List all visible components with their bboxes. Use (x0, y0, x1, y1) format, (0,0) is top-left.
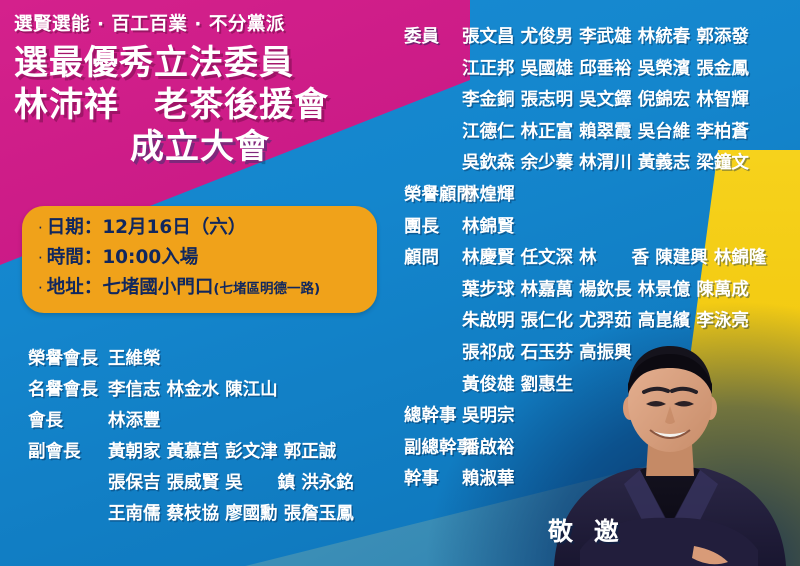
event-time-value: 10:00入場 (102, 243, 198, 272)
roster-names: 黃俊雄 劉惠生 (462, 370, 573, 402)
roster-row: 江正邦 吳國雄 邱垂裕 吳榮濱 張金鳳 (404, 54, 800, 86)
roster-row: 張保吉 張威賢 吳 鎮 洪永銘 (28, 468, 428, 499)
header-kicker: 選賢選能 · 百工百業 · 不分黨派 (14, 10, 414, 36)
roster-row: 榮譽顧問 林煌輝 (404, 180, 800, 212)
roster-row: 顧問 林慶賢 任文深 林 香 陳建興 林錦隆 (404, 243, 800, 275)
right-roster-list: 委員 張文昌 尤俊男 李武雄 林統春 郭添發 江正邦 吳國雄 邱垂裕 吳榮濱 張… (404, 22, 800, 496)
event-date-label: 日期 (47, 213, 84, 242)
event-details-card: · 日期 ： 12月16日（六） · 時間 ： 10:00入場 · 地址 ： 七… (22, 206, 377, 313)
roster-role: 榮譽顧問 (404, 180, 462, 212)
colon-separator: ： (84, 243, 103, 272)
event-address-value: 七堵國小門口 (102, 273, 213, 302)
roster-row: 副會長 黃朝家 黃慕莒 彭文津 郭正誠 (28, 437, 428, 468)
roster-names: 賴淑華 (462, 464, 515, 496)
roster-names: 張祁成 石玉芬 高振興 (462, 338, 632, 370)
signoff-text: 敬 邀 (548, 512, 625, 548)
event-date-value: 12月16日（六） (102, 213, 246, 242)
roster-names: 吳明宗 (462, 401, 515, 433)
roster-names: 朱啟明 張仁化 尤羿茹 高崑繽 李泳亮 (462, 306, 749, 338)
roster-role: 名譽會長 (28, 375, 108, 406)
event-detail-row-date: · 日期 ： 12月16日（六） (22, 213, 377, 243)
roster-names: 林慶賢 任文深 林 香 陳建興 林錦隆 (462, 243, 766, 275)
roster-role: 團長 (404, 212, 462, 244)
roster-names: 張保吉 張威賢 吳 鎮 洪永銘 (108, 468, 354, 499)
roster-row: 李金銅 張志明 吳文鐸 倪錦宏 林智輝 (404, 85, 800, 117)
roster-row: 副總幹事 潘啟裕 (404, 433, 800, 465)
poster-canvas: 選賢選能 · 百工百業 · 不分黨派 選最優秀立法委員 林沛祥 老茶後援會 成立… (0, 0, 800, 566)
bullet-icon: · (38, 244, 43, 273)
roster-row: 朱啟明 張仁化 尤羿茹 高崑繽 李泳亮 (404, 306, 800, 338)
header-title-line3: 成立大會 (14, 126, 386, 168)
bullet-icon: · (38, 214, 43, 243)
event-detail-row-time: · 時間 ： 10:00入場 (22, 243, 377, 273)
roster-names: 江德仁 林正富 賴翠霞 吳台維 李柏蒼 (462, 117, 749, 149)
event-detail-row-address: · 地址 ： 七堵國小門口 (七堵區明德一路) (22, 273, 377, 304)
roster-names: 李金銅 張志明 吳文鐸 倪錦宏 林智輝 (462, 85, 749, 117)
roster-row: 名譽會長 李信志 林金水 陳江山 (28, 375, 428, 406)
roster-row: 葉步球 林嘉萬 楊欽長 林景億 陳萬成 (404, 275, 800, 307)
roster-names: 林煌輝 (462, 180, 515, 212)
colon-separator: ： (84, 273, 103, 302)
event-address-label: 地址 (47, 273, 84, 302)
roster-names: 王維榮 (108, 344, 161, 375)
poster-header: 選賢選能 · 百工百業 · 不分黨派 選最優秀立法委員 林沛祥 老茶後援會 成立… (14, 10, 414, 168)
roster-role: 副總幹事 (404, 433, 462, 465)
bullet-icon: · (38, 274, 43, 303)
roster-row: 榮譽會長 王維榮 (28, 344, 428, 375)
roster-role: 總幹事 (404, 401, 462, 433)
roster-row: 幹事 賴淑華 (404, 464, 800, 496)
roster-row: 黃俊雄 劉惠生 (404, 370, 800, 402)
roster-row: 總幹事 吳明宗 (404, 401, 800, 433)
roster-names: 吳欽森 余少蓁 林渭川 黃義志 梁鐘文 (462, 148, 749, 180)
roster-row: 吳欽森 余少蓁 林渭川 黃義志 梁鐘文 (404, 148, 800, 180)
roster-role: 委員 (404, 22, 462, 54)
roster-row: 會長 林添豐 (28, 406, 428, 437)
roster-row: 王南儒 蔡枝協 廖國勳 張詹玉鳳 (28, 499, 428, 530)
roster-names: 王南儒 蔡枝協 廖國勳 張詹玉鳳 (108, 499, 354, 530)
roster-names: 林錦賢 (462, 212, 515, 244)
roster-names: 李信志 林金水 陳江山 (108, 375, 278, 406)
roster-role: 幹事 (404, 464, 462, 496)
roster-row: 委員 張文昌 尤俊男 李武雄 林統春 郭添發 (404, 22, 800, 54)
event-address-detail: (七堵區明德一路) (213, 275, 320, 304)
colon-separator: ： (84, 213, 103, 242)
roster-role: 榮譽會長 (28, 344, 108, 375)
header-title-line2: 林沛祥 老茶後援會 (14, 84, 414, 126)
header-title-line1: 選最優秀立法委員 (14, 42, 414, 84)
event-time-label: 時間 (47, 243, 84, 272)
roster-names: 潘啟裕 (462, 433, 515, 465)
roster-role: 會長 (28, 406, 108, 437)
roster-role: 副會長 (28, 437, 108, 468)
roster-names: 葉步球 林嘉萬 楊欽長 林景億 陳萬成 (462, 275, 749, 307)
roster-names: 黃朝家 黃慕莒 彭文津 郭正誠 (108, 437, 336, 468)
roster-role: 顧問 (404, 243, 462, 275)
roster-row: 江德仁 林正富 賴翠霞 吳台維 李柏蒼 (404, 117, 800, 149)
left-roster-list: 榮譽會長 王維榮 名譽會長 李信志 林金水 陳江山 會長 林添豐 副會長 黃朝家… (28, 344, 428, 530)
roster-row: 張祁成 石玉芬 高振興 (404, 338, 800, 370)
roster-row: 團長 林錦賢 (404, 212, 800, 244)
roster-names: 江正邦 吳國雄 邱垂裕 吳榮濱 張金鳳 (462, 54, 749, 86)
roster-names: 張文昌 尤俊男 李武雄 林統春 郭添發 (462, 22, 749, 54)
roster-names: 林添豐 (108, 406, 161, 437)
